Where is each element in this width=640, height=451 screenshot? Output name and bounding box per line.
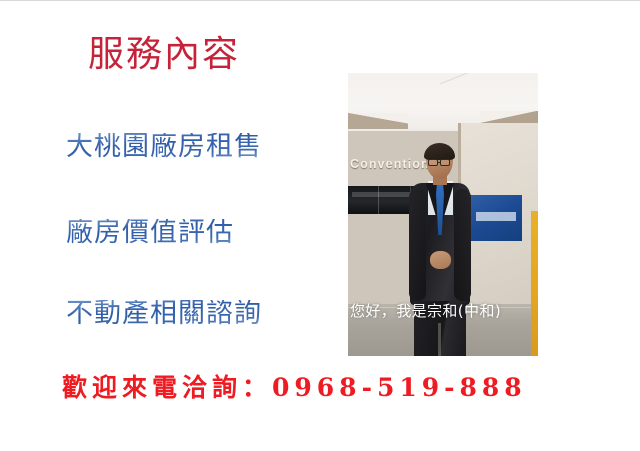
photo-counter-seam-1 [378, 186, 379, 214]
service-item-1: 大桃園廠房租售 [66, 133, 262, 160]
slide-canvas: 服務內容 大桃園廠房租售 廠房價值評估 不動產相關諮詢 Convention C… [0, 0, 640, 451]
photo-person-hands [430, 251, 451, 269]
photo-person-glasses-bridge [438, 162, 441, 163]
photo-person-arm-left [409, 189, 426, 301]
photo-caption: 您好，我是宗和(中和) [350, 304, 560, 319]
photo-person-glasses-right [440, 159, 450, 166]
photo-person-arm-right [454, 189, 471, 301]
page-title: 服務內容 [88, 37, 240, 73]
service-item-2: 廠房價值評估 [66, 219, 234, 246]
photo-person-leg-gap [438, 323, 441, 356]
service-item-3: 不動產相關諮詢 [66, 300, 262, 327]
photo-blue-sign-plate [476, 212, 516, 221]
photo-accent-strip [531, 211, 538, 356]
photo-person-glasses-left [428, 159, 438, 166]
contact-phone-line: 歡迎來電洽詢：0968-519-888 [62, 375, 527, 400]
